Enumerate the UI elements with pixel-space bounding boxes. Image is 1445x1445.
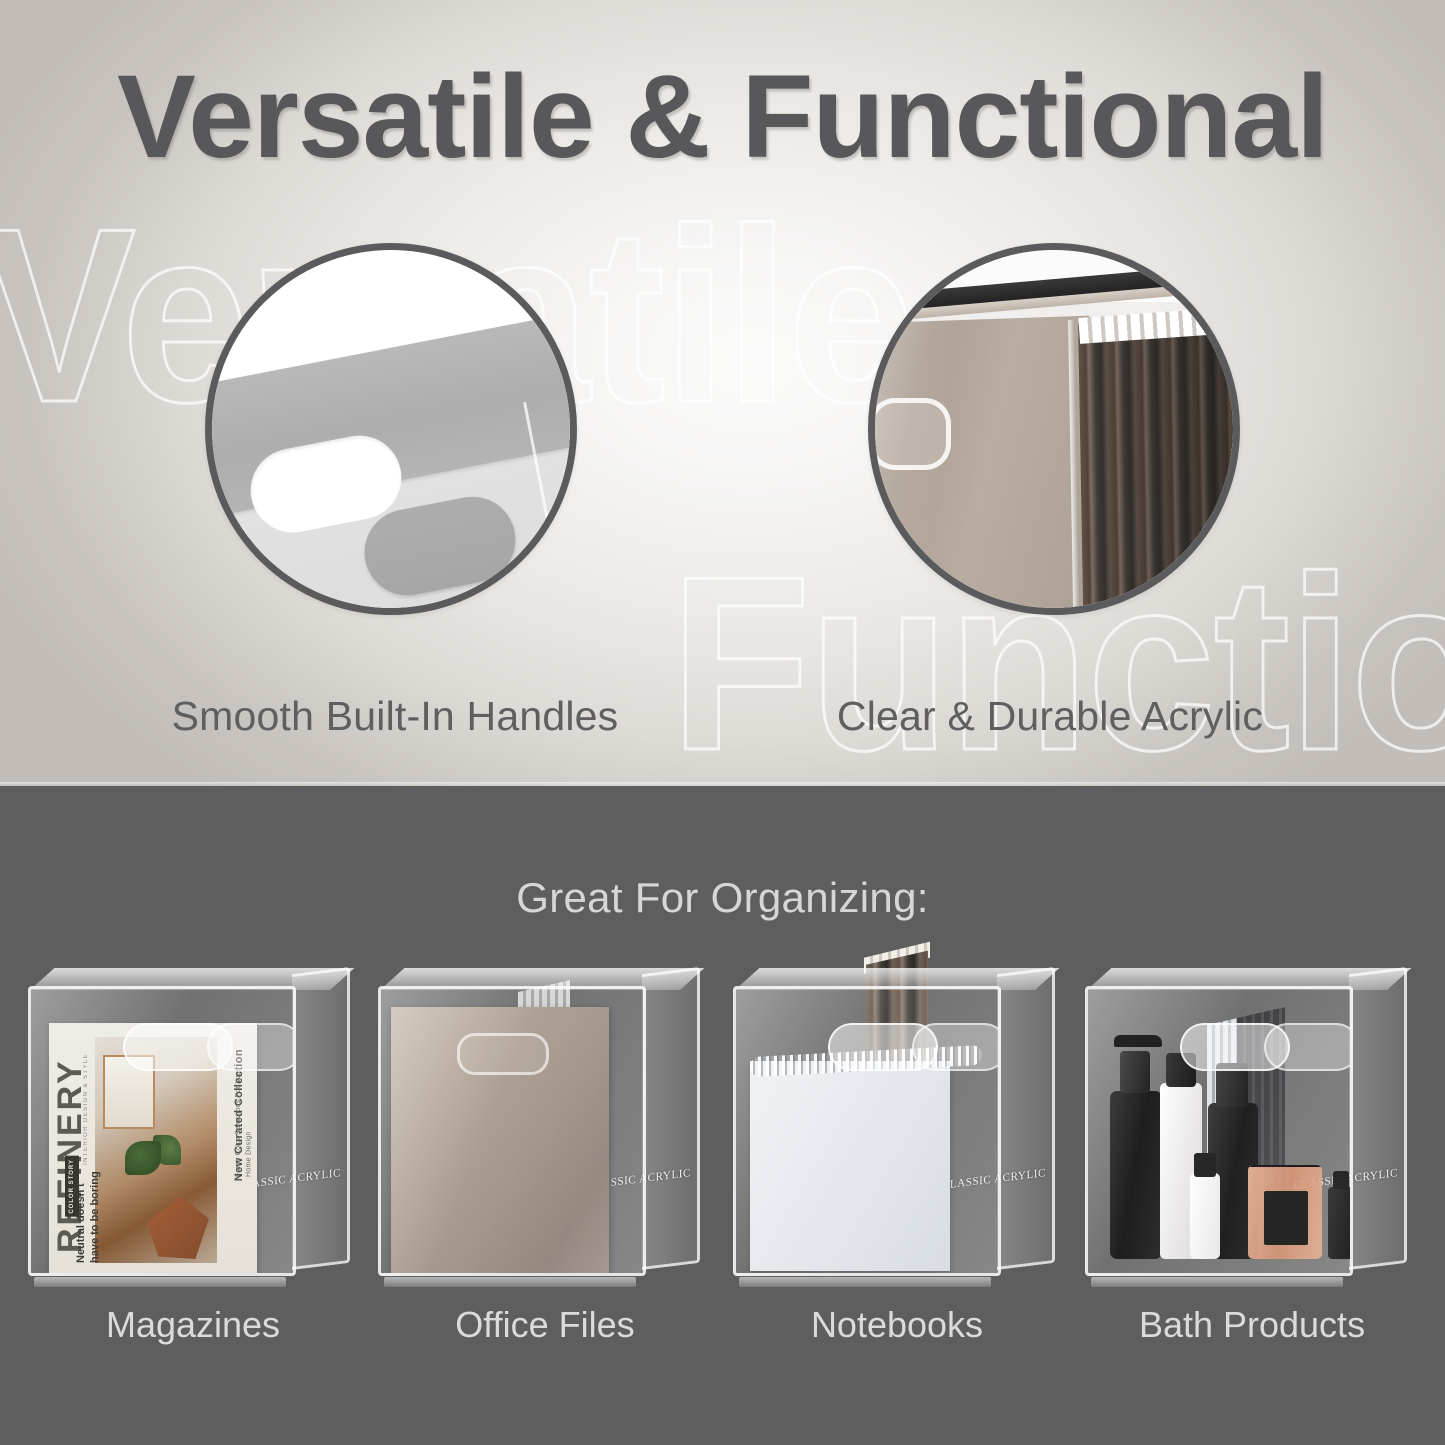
label-office-files: Office Files	[370, 1304, 720, 1346]
magazine-blurb: Neutral doesn't have to be boring	[75, 1159, 103, 1263]
bin-front-panel	[1085, 986, 1353, 1276]
bin-base-edge	[1091, 1277, 1343, 1287]
handle-cutout-icon	[875, 398, 951, 470]
bin-bath-products: CLASSIC ACRYLIC	[1085, 978, 1397, 1283]
chair-illustration	[147, 1197, 209, 1259]
jar-label	[1264, 1191, 1308, 1245]
feature-circle-clear-acrylic	[868, 243, 1240, 615]
handle-cutout-rear-icon	[207, 1023, 296, 1071]
pump-bottle-black	[1110, 1091, 1162, 1259]
label-notebooks: Notebooks	[722, 1304, 1072, 1346]
handle-cutout-rear-icon	[912, 1023, 1001, 1071]
file-stack-shading	[1078, 321, 1233, 608]
bin-front-panel	[378, 986, 646, 1276]
handle-cutout-icon	[457, 1033, 549, 1075]
acrylic-closeup-image	[875, 250, 1233, 608]
feature-caption-clear-acrylic: Clear & Durable Acrylic	[655, 693, 1445, 740]
bin-front-panel: REFINERY INTERIOR DESIGN & STYLE New Cur…	[28, 986, 296, 1276]
handle-cutout-rear-icon	[1264, 1023, 1353, 1071]
bin-front-panel	[733, 986, 1001, 1276]
bin-top-edge	[30, 968, 354, 990]
product-infographic: Versatile Function Versatile & Functiona…	[0, 0, 1445, 1445]
label-magazines: Magazines	[18, 1304, 368, 1346]
notebook-cover	[750, 1061, 950, 1271]
handle-closeup-image	[212, 250, 570, 608]
bin-top-edge	[735, 968, 1059, 990]
bottle-black-small	[1328, 1187, 1353, 1259]
organizing-labels-row: Magazines Office Files Notebooks Bath Pr…	[0, 1304, 1445, 1358]
bath-salts-jar	[1248, 1165, 1322, 1259]
bin-side-panel: CLASSIC ACRYLIC	[1349, 967, 1407, 1270]
bin-top-edge	[1087, 968, 1411, 990]
features-panel: Versatile Function Versatile & Functiona…	[0, 0, 1445, 786]
bottle-white-small	[1190, 1173, 1220, 1259]
bin-base-edge	[739, 1277, 991, 1287]
page-title: Versatile & Functional	[0, 58, 1445, 176]
bin-top-edge	[380, 968, 704, 990]
feature-circle-smooth-handles	[205, 243, 577, 615]
bin-side-panel: CLASSIC ACRYLIC	[997, 967, 1055, 1270]
bin-magazines: CLASSIC ACRYLIC REFINERY INTERIOR DESIGN…	[28, 978, 340, 1283]
plant-leaf-icon	[153, 1135, 181, 1165]
organizing-heading: Great For Organizing:	[0, 874, 1445, 922]
bin-notebooks: CLASSIC ACRYLIC	[733, 978, 1045, 1283]
bin-side-panel: CLASSIC ACRYLIC	[292, 967, 350, 1270]
organizing-bins-row: CLASSIC ACRYLIC REFINERY INTERIOR DESIGN…	[0, 978, 1445, 1288]
bin-office-files: CLASSIC ACRYLIC	[378, 978, 690, 1283]
bin-base-edge	[34, 1277, 286, 1287]
bin-side-panel: CLASSIC ACRYLIC	[642, 967, 700, 1270]
bin-base-edge	[384, 1277, 636, 1287]
label-bath-products: Bath Products	[1072, 1304, 1432, 1346]
magazine-subtitle: INTERIOR DESIGN & STYLE	[83, 1053, 89, 1165]
